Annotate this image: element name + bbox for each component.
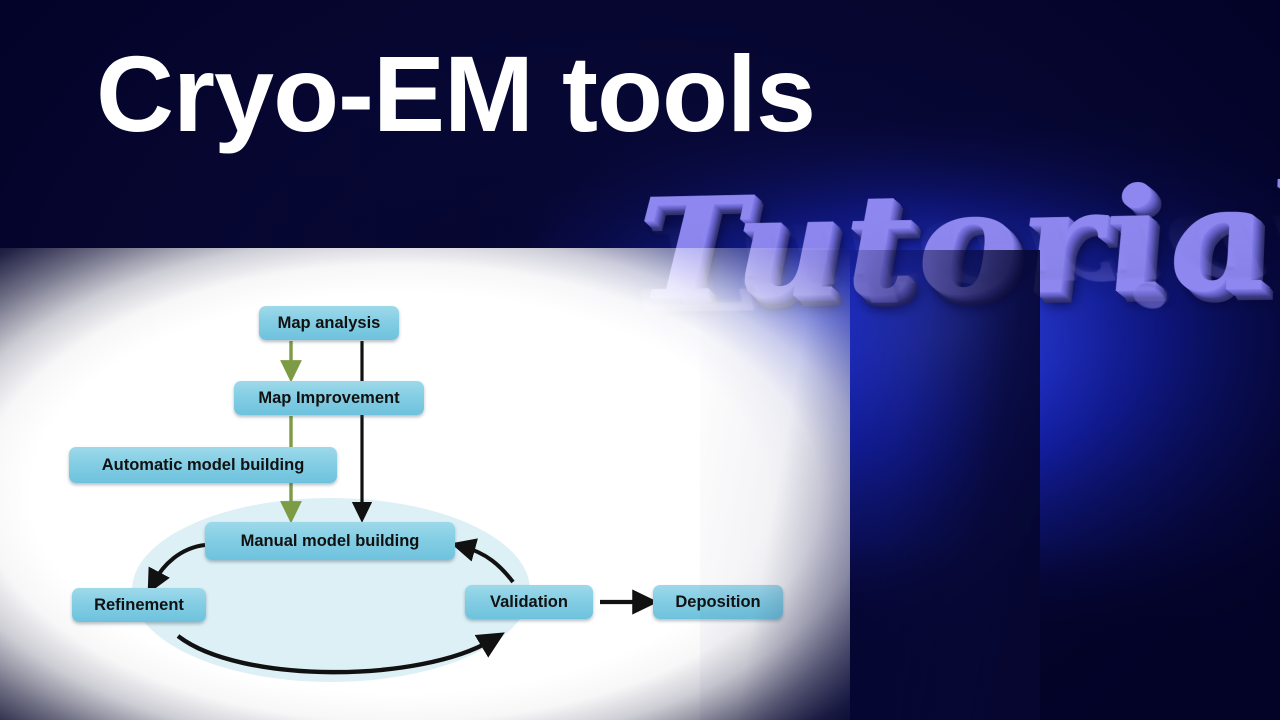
arrow-refinement-to-validation [178,636,492,672]
slide-canvas: Tutorial Tutorial [0,0,1280,720]
node-manual-model-building-label: Manual model building [241,532,420,551]
node-deposition[interactable]: Deposition [653,585,783,619]
node-automatic-model-building-label: Automatic model building [102,456,305,475]
arrow-validation-to-manual [464,547,513,582]
node-map-improvement[interactable]: Map Improvement [234,381,424,415]
node-deposition-label: Deposition [675,593,760,612]
arrow-manual-to-refinement [154,545,205,582]
page-title: Cryo-EM tools [96,36,815,153]
node-refinement-label: Refinement [94,596,184,615]
node-refinement[interactable]: Refinement [72,588,206,622]
node-validation[interactable]: Validation [465,585,593,619]
node-validation-label: Validation [490,593,568,612]
node-map-improvement-label: Map Improvement [258,389,399,408]
node-automatic-model-building[interactable]: Automatic model building [69,447,337,483]
node-map-analysis-label: Map analysis [278,314,381,333]
node-map-analysis[interactable]: Map analysis [259,306,399,340]
node-manual-model-building[interactable]: Manual model building [205,522,455,560]
